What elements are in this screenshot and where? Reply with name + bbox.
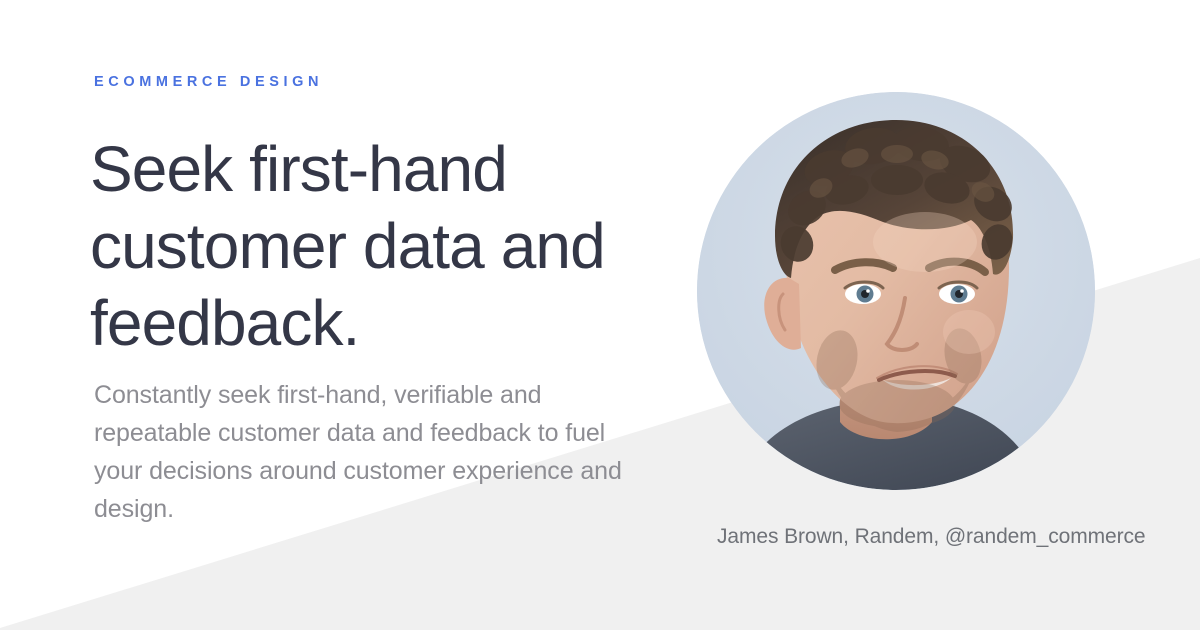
body-paragraph: Constantly seek first-hand, verifiable a…: [94, 376, 654, 528]
page-title: Seek first-hand customer data and feedba…: [90, 131, 700, 362]
avatar: [697, 92, 1095, 490]
category-eyebrow: ECOMMERCE DESIGN: [94, 75, 323, 91]
portrait-photo-icon: [697, 92, 1095, 490]
quote-card: ECOMMERCE DESIGN Seek first-hand custome…: [0, 0, 1200, 630]
attribution-text: James Brown, Randem, @randem_commerce: [717, 525, 1137, 549]
